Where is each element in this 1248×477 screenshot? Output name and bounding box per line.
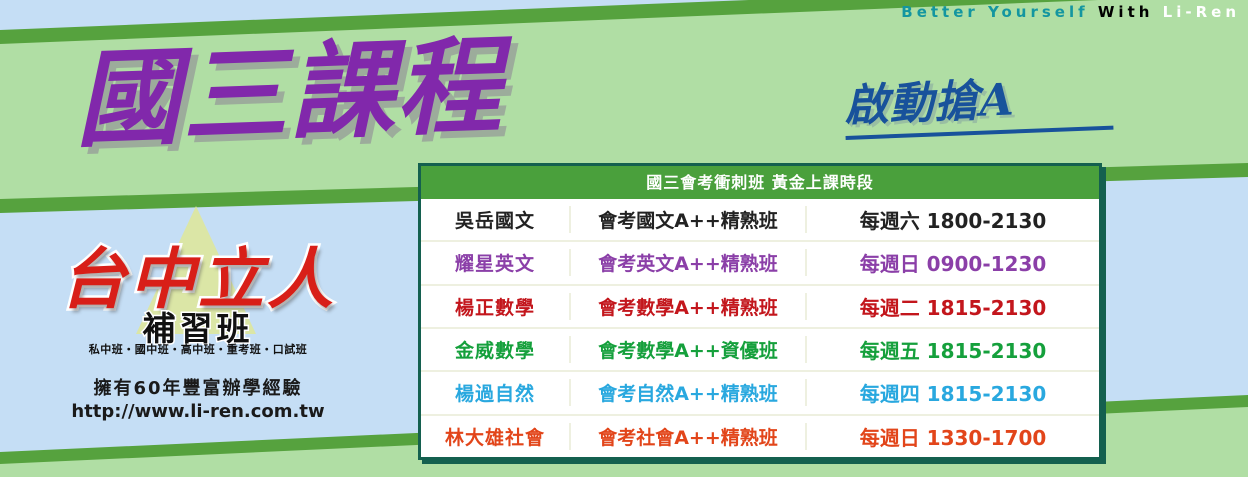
cell-course: 會考數學A++精熟班 [571, 293, 807, 320]
tagline-part-3: Li-Ren [1163, 3, 1240, 21]
tagline-part-1: Better Yourself [901, 3, 1088, 21]
subtitle-group: 啟動搶A [843, 60, 1113, 140]
cell-teacher: 林大雄社會 [421, 423, 571, 450]
poster-canvas: Better Yourself With Li-Ren 國三課程 啟動搶A 台中… [0, 0, 1248, 477]
cell-time: 每週四 1815-2130 [807, 378, 1099, 407]
cell-time: 每週日 1330-1700 [807, 422, 1099, 451]
schedule-table: 國三會考衝刺班 黃金上課時段 吳岳國文會考國文A++精熟班每週六 1800-21… [418, 163, 1102, 460]
cell-teacher: 金威數學 [421, 336, 571, 363]
cell-time: 每週二 1815-2130 [807, 292, 1099, 321]
logo-website-url[interactable]: http://www.li-ren.com.tw [28, 401, 368, 422]
logo-categories: 私中班・國中班・高中班・重考班・口試班 [28, 341, 368, 357]
brand-logo: 台中立人 補習班 私中班・國中班・高中班・重考班・口試班 擁有60年豐富辦學經驗… [28, 206, 368, 422]
cell-teacher: 耀星英文 [421, 249, 571, 276]
table-row: 林大雄社會會考社會A++精熟班每週日 1330-1700 [421, 416, 1099, 457]
cell-course: 會考英文A++精熟班 [571, 249, 807, 276]
cell-course: 會考社會A++精熟班 [571, 423, 807, 450]
cell-course: 會考國文A++精熟班 [571, 206, 807, 233]
table-row: 楊正數學會考數學A++精熟班每週二 1815-2130 [421, 286, 1099, 329]
cell-teacher: 楊過自然 [421, 379, 571, 406]
schedule-table-header: 國三會考衝刺班 黃金上課時段 [421, 166, 1099, 199]
cell-course: 會考自然A++精熟班 [571, 379, 807, 406]
tagline-part-2: With [1098, 3, 1154, 21]
logo-artwork: 台中立人 補習班 私中班・國中班・高中班・重考班・口試班 [28, 206, 368, 356]
tagline: Better Yourself With Li-Ren [901, 3, 1240, 21]
cell-time: 每週日 0900-1230 [807, 248, 1099, 277]
table-row: 楊過自然會考自然A++精熟班每週四 1815-2130 [421, 372, 1099, 415]
table-row: 吳岳國文會考國文A++精熟班每週六 1800-2130 [421, 199, 1099, 242]
cell-course: 會考數學A++資優班 [571, 336, 807, 363]
cell-time: 每週五 1815-2130 [807, 335, 1099, 364]
cell-teacher: 楊正數學 [421, 293, 571, 320]
logo-experience: 擁有60年豐富辦學經驗 [28, 374, 368, 400]
cell-time: 每週六 1800-2130 [807, 205, 1099, 234]
cell-teacher: 吳岳國文 [421, 206, 571, 233]
table-row: 金威數學會考數學A++資優班每週五 1815-2130 [421, 329, 1099, 372]
schedule-table-body: 吳岳國文會考國文A++精熟班每週六 1800-2130耀星英文會考英文A++精熟… [421, 199, 1099, 457]
page-title: 國三課程 [72, 1, 505, 168]
page-subtitle: 啟動搶A [843, 60, 1113, 134]
table-row: 耀星英文會考英文A++精熟班每週日 0900-1230 [421, 242, 1099, 285]
